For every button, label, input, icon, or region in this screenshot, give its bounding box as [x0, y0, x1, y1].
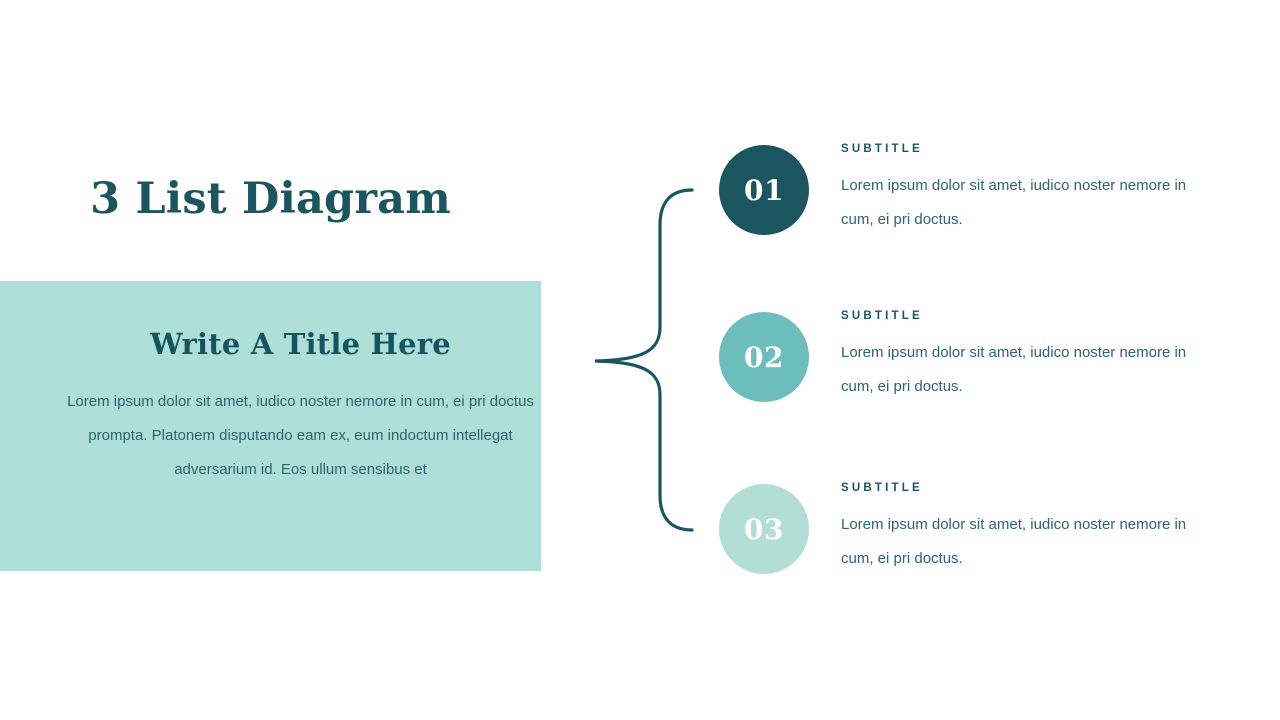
list-item-subtitle: SUBTITLE [841, 482, 1191, 494]
list-item-description: Lorem ipsum dolor sit amet, iudico noste… [841, 169, 1191, 237]
info-card-title: Write A Title Here [60, 325, 541, 363]
list-item-description: Lorem ipsum dolor sit amet, iudico noste… [841, 336, 1191, 404]
list-item-text: SUBTITLE Lorem ipsum dolor sit amet, iud… [841, 310, 1191, 404]
list-item-text: SUBTITLE Lorem ipsum dolor sit amet, iud… [841, 143, 1191, 237]
list-item-number-badge: 02 [719, 312, 809, 402]
list-item[interactable]: 01 SUBTITLE Lorem ipsum dolor sit amet, … [719, 145, 1189, 245]
list-item-text: SUBTITLE Lorem ipsum dolor sit amet, iud… [841, 482, 1191, 576]
slide-canvas: 3 List Diagram Write A Title Here Lorem … [0, 0, 1280, 720]
info-card-content: Write A Title Here Lorem ipsum dolor sit… [60, 325, 541, 487]
list-item-subtitle: SUBTITLE [841, 310, 1191, 322]
list-item-number-badge: 03 [719, 484, 809, 574]
info-card: Write A Title Here Lorem ipsum dolor sit… [0, 281, 541, 571]
list-item[interactable]: 02 SUBTITLE Lorem ipsum dolor sit amet, … [719, 312, 1189, 412]
curly-brace-connector [588, 185, 703, 535]
list-item-description: Lorem ipsum dolor sit amet, iudico noste… [841, 508, 1191, 576]
info-card-body: Lorem ipsum dolor sit amet, iudico noste… [60, 385, 541, 487]
list-item-number-badge: 01 [719, 145, 809, 235]
page-title: 3 List Diagram [0, 170, 541, 228]
list-item-subtitle: SUBTITLE [841, 143, 1191, 155]
list-item[interactable]: 03 SUBTITLE Lorem ipsum dolor sit amet, … [719, 484, 1189, 584]
